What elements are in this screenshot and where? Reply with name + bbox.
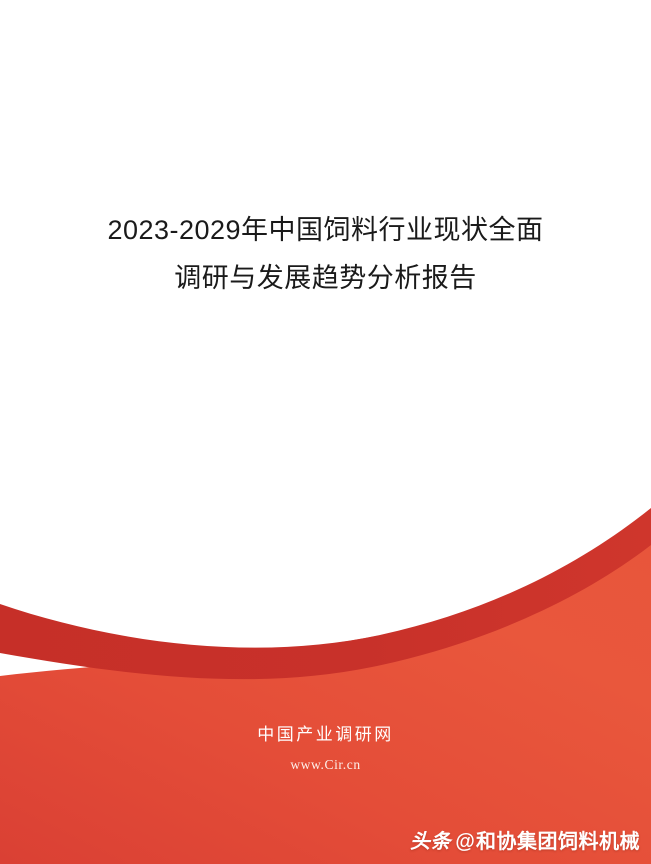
cover-ribbon-shape bbox=[0, 508, 651, 679]
watermark-at-icon: @ bbox=[451, 831, 476, 853]
watermark-logo-text: 头条 bbox=[410, 831, 451, 853]
publisher-url: www.Cir.cn bbox=[0, 756, 651, 774]
title-line-2: 调研与发展趋势分析报告 bbox=[0, 254, 651, 302]
report-cover-page: 2023-2029年中国饲料行业现状全面 调研与发展趋势分析报告 中国产业调研网… bbox=[0, 0, 651, 864]
title-line-1: 2023-2029年中国饲料行业现状全面 bbox=[0, 206, 651, 254]
publisher-brand: 中国产业调研网 www.Cir.cn bbox=[0, 722, 651, 774]
cover-title: 2023-2029年中国饲料行业现状全面 调研与发展趋势分析报告 bbox=[0, 206, 651, 302]
watermark-account-name: 和协集团饲料机械 bbox=[476, 831, 640, 853]
toutiao-watermark: 头条@和协集团饲料机械 bbox=[410, 829, 640, 855]
cover-base-shape bbox=[0, 541, 651, 864]
publisher-name: 中国产业调研网 bbox=[0, 722, 651, 748]
